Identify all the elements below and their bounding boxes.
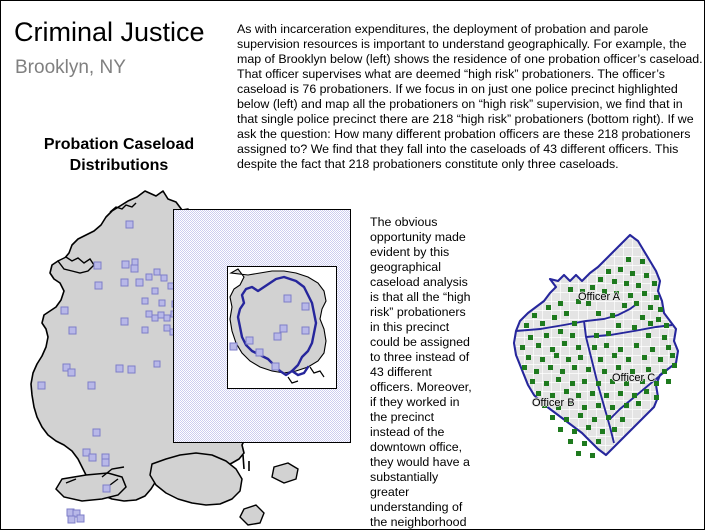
maps-section-heading: Probation Caseload Distributions xyxy=(13,134,225,176)
precinct-inset-box[interactable] xyxy=(227,266,337,389)
brooklyn-channel-mark xyxy=(243,455,249,471)
brooklyn-island-1 xyxy=(272,463,298,483)
officer-a-label: Officer A xyxy=(578,291,620,303)
precinct-inset-svg xyxy=(228,267,336,388)
page-title: Criminal Justice xyxy=(14,17,205,47)
brooklyn-island-2 xyxy=(240,505,264,525)
precinct-officer-map[interactable]: Officer A Officer B Officer C xyxy=(506,229,705,469)
precinct-officer-svg xyxy=(506,229,705,469)
page-subtitle: Brooklyn, NY xyxy=(15,57,126,79)
body-paragraph-side: The obvious opportunity made evident by … xyxy=(370,215,474,530)
slide-canvas: Criminal Justice Brooklyn, NY Probation … xyxy=(0,0,705,530)
officer-c-label: Officer C xyxy=(612,372,655,384)
officer-b-label: Officer B xyxy=(532,397,575,409)
body-paragraph-top: As with incarceration expenditures, the … xyxy=(237,22,703,172)
